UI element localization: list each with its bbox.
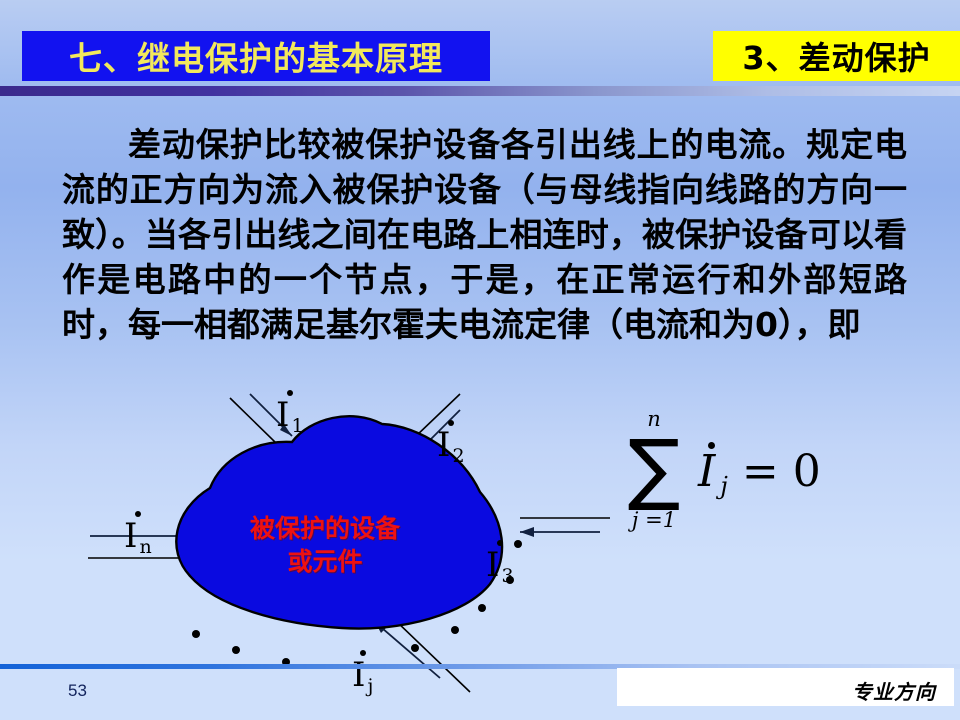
current-label-i2: I2 — [437, 425, 465, 467]
current-subscript-i2: 2 — [450, 445, 464, 467]
current-label-i1: I1 — [276, 395, 304, 437]
page-number: 53 — [68, 681, 87, 701]
formula-subscript: j — [717, 472, 727, 500]
phasor-dot-i3 — [497, 540, 503, 546]
current-subscript-in: n — [137, 536, 151, 558]
current-symbol-i2: I — [437, 425, 450, 465]
slide-header: 七、继电保护的基本原理 3、差动保护 — [0, 0, 960, 92]
section-title-text: 七、继电保护的基本原理 — [69, 32, 443, 80]
blob-caption-line1: 被保护的设备 — [200, 512, 450, 545]
current-symbol-ij: I — [352, 655, 365, 695]
footer-brand-box: 专业方向 — [617, 668, 954, 706]
current-label-ij: Ij — [352, 655, 373, 697]
summation-sigma-icon: ∑ — [608, 430, 700, 508]
phasor-dot-i1 — [287, 390, 293, 396]
section-title-box: 七、继电保护的基本原理 — [22, 31, 490, 81]
subsection-title-text: 3、差动保护 — [742, 33, 930, 79]
header-divider — [0, 86, 960, 96]
current-symbol-i3: I — [486, 545, 499, 585]
formula-variable-group: I — [698, 446, 717, 497]
footer-brand-text: 专业方向 — [852, 676, 936, 705]
current-subscript-ij: j — [365, 675, 373, 697]
arrowhead-i3 — [520, 527, 534, 537]
body-paragraph: 差动保护比较被保护设备各引出线上的电流。规定电流的正方向为流入被保护设备（与母线… — [62, 122, 907, 347]
arrow-ij-shaft — [375, 622, 440, 678]
phasor-dot-in — [135, 511, 141, 517]
current-symbol-i1: I — [276, 395, 289, 435]
phasor-dot-formula — [708, 442, 715, 449]
phasor-dot-ij — [360, 650, 366, 656]
blob-caption-line2: 或元件 — [200, 545, 450, 578]
formula-expression: Ij= 0 — [698, 446, 821, 500]
current-subscript-i1: 1 — [289, 415, 303, 437]
slide-canvas: 七、继电保护的基本原理 3、差动保护 差动保护比较被保护设备各引出线上的电流。规… — [0, 0, 960, 720]
current-symbol-in: I — [124, 516, 137, 556]
current-subscript-i3: 3 — [499, 565, 513, 587]
current-label-in: In — [124, 516, 152, 558]
formula-variable: I — [698, 446, 715, 497]
summation-operator: n ∑ j =1 — [608, 408, 700, 532]
formula-equals: = 0 — [728, 446, 821, 497]
kirchhoff-formula: n ∑ j =1 Ij= 0 — [600, 408, 860, 538]
blob-caption: 被保护的设备 或元件 — [200, 512, 450, 578]
subsection-title-box: 3、差动保护 — [713, 31, 960, 81]
summation-lower-limit: j =1 — [608, 508, 700, 532]
phasor-dot-i2 — [448, 420, 454, 426]
protected-equipment-diagram: 被保护的设备 或元件 — [70, 380, 630, 700]
current-label-i3: I3 — [486, 545, 514, 587]
